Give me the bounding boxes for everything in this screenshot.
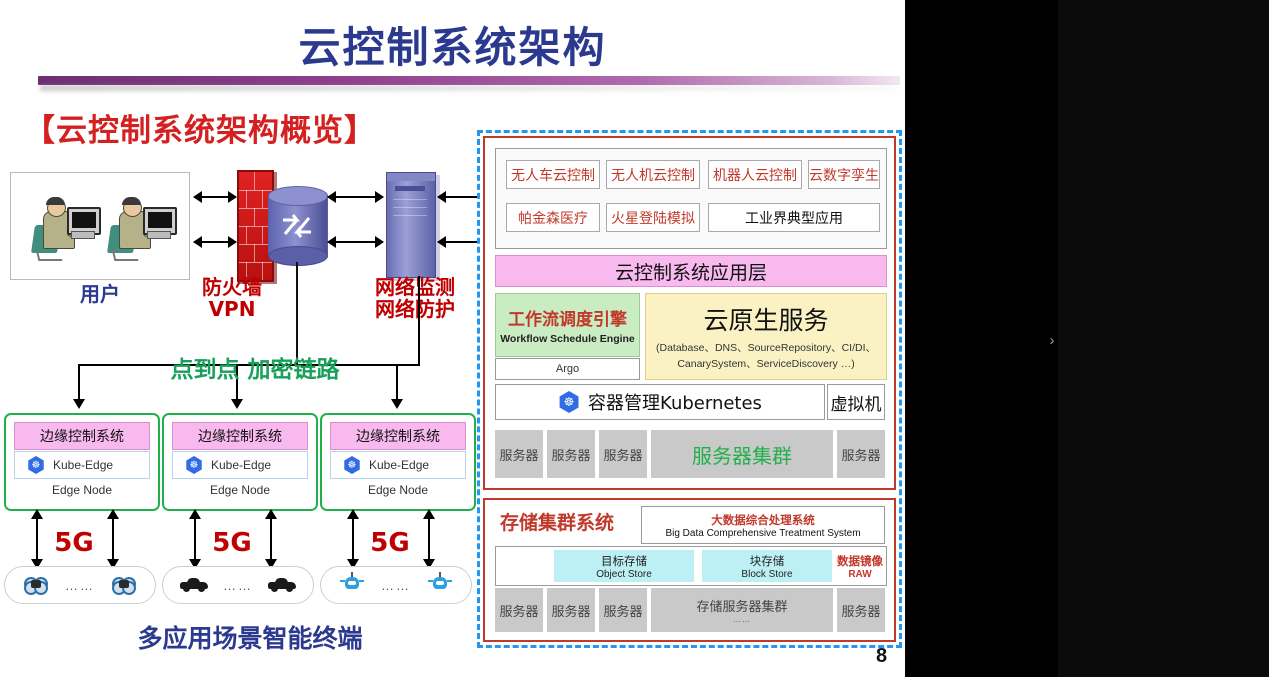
edge-control-system-title: 边缘控制系统 (14, 422, 150, 450)
car-icon (180, 578, 208, 592)
storage-types-row: 目标存储 Object Store 块存储 Block Store 数据镜像 R… (495, 546, 887, 586)
cloud-native-en: (Database、DNS、SourceRepository、CI/DI、Can… (646, 341, 886, 371)
section-subtitle: 【云控制系统架构概览】 (24, 105, 376, 150)
presentation-slide: 云控制系统架构 【云控制系统架构概览】 8 用户 (0, 0, 905, 677)
kube-edge-label: Kube-Edge (369, 458, 429, 472)
storage-server-box-3: 服务器 (599, 588, 647, 632)
cloud-native-services-box: 云原生服务 (Database、DNS、SourceRepository、CI/… (645, 293, 887, 380)
server-box-4: 服务器 (837, 430, 885, 478)
drone-icon (24, 577, 48, 593)
robot-icon (428, 576, 452, 594)
application-list-box: 无人车云控制 无人机云控制 机器人云控制 云数字孪生 帕金森医疗 火星登陆模拟 … (495, 148, 887, 249)
arrow-router-server-bottom (328, 241, 383, 243)
link-5g-3b (428, 518, 430, 560)
firewall-label: 防火墙 VPN (184, 276, 280, 321)
stage-background (905, 0, 1058, 677)
server-cluster-row: 服务器 服务器 服务器 服务器集群 服务器 (495, 430, 885, 478)
data-mirror-cn: 数据镜像 (837, 553, 883, 569)
storage-server-box-4: 服务器 (837, 588, 885, 632)
block-store-box: 块存储 Block Store (702, 550, 832, 582)
kube-edge-label: Kube-Edge (211, 458, 271, 472)
router-stem-line (296, 262, 298, 366)
workflow-engine-cn: 工作流调度引擎 (508, 305, 627, 330)
user-person-icon (103, 195, 177, 261)
arrow-to-edge-1 (78, 364, 80, 400)
container-layer-row: ☸ 容器管理Kubernetes 虚拟机 (495, 384, 885, 418)
edge-node-2[interactable]: 边缘控制系统 ☸ Kube-Edge Edge Node (162, 413, 318, 511)
firewall-label-vpn: VPN (209, 297, 256, 321)
page-title: 云控制系统架构 (0, 14, 905, 75)
arrow-users-firewall-top (194, 196, 236, 198)
car-icon (268, 578, 296, 592)
kubernetes-icon: ☸ (558, 391, 580, 413)
server-box-3: 服务器 (599, 430, 647, 478)
network-monitor-server-icon (386, 172, 436, 278)
app-item-1[interactable]: 无人机云控制 (606, 160, 700, 189)
arrow-to-edge-3 (396, 364, 398, 400)
firewall-label-cn: 防火墙 (202, 275, 262, 299)
edge-trunk-riser (418, 276, 420, 366)
users-illustration-box (10, 172, 190, 280)
arrow-server-cloud-bottom (438, 241, 478, 243)
kube-edge-row: ☸ Kube-Edge (14, 451, 150, 479)
edge-node-footer: Edge Node (164, 483, 316, 497)
users-label: 用户 (50, 283, 150, 305)
link-5g-3a (352, 518, 354, 560)
link-5g-1b (112, 518, 114, 560)
cloud-application-layer-band: 云控制系统应用层 (495, 255, 887, 287)
kubernetes-icon: ☸ (27, 456, 45, 474)
terminal-group-cars: …… (162, 566, 314, 604)
title-divider (38, 76, 900, 85)
network-defense-text: 网络防护 (375, 297, 455, 321)
multi-scenario-terminal-label: 多应用场景智能终端 (60, 625, 440, 653)
network-monitor-text: 网络监测 (375, 275, 455, 299)
app-item-5[interactable]: 火星登陆模拟 (606, 203, 700, 232)
server-box-1: 服务器 (495, 430, 543, 478)
edge-node-3[interactable]: 边缘控制系统 ☸ Kube-Edge Edge Node (320, 413, 476, 511)
kube-edge-label: Kube-Edge (53, 458, 113, 472)
app-item-0[interactable]: 无人车云控制 (506, 160, 600, 189)
router-icon (268, 186, 326, 264)
big-data-en: Big Data Comprehensive Treatment System (665, 528, 860, 539)
edge-node-footer: Edge Node (322, 483, 474, 497)
label-5g-2: 5G (212, 528, 252, 558)
p2p-encrypted-link-label: 点到点 加密链路 (140, 358, 370, 384)
storage-server-box-2: 服务器 (547, 588, 595, 632)
workflow-schedule-engine-box: 工作流调度引擎 Workflow Schedule Engine (495, 293, 640, 357)
title-divider-shadow (40, 85, 898, 91)
argo-box: Argo (495, 358, 640, 380)
kube-edge-row: ☸ Kube-Edge (330, 451, 466, 479)
participant-rail: 高鹏 杨振 北京理工大学自动化学院 (1058, 0, 1269, 677)
edge-node-1[interactable]: 边缘控制系统 ☸ Kube-Edge Edge Node (4, 413, 160, 511)
label-5g-1: 5G (54, 528, 94, 558)
link-5g-2a (194, 518, 196, 560)
screen: 云控制系统架构 【云控制系统架构概览】 8 用户 (0, 0, 1269, 677)
kube-edge-row: ☸ Kube-Edge (172, 451, 308, 479)
kubernetes-icon: ☸ (185, 456, 203, 474)
server-cluster-box: 服务器集群 (651, 430, 833, 478)
big-data-cn: 大数据综合处理系统 (711, 512, 815, 528)
terminal-group-robots: …… (320, 566, 472, 604)
kubernetes-icon: ☸ (343, 456, 361, 474)
big-data-treatment-box: 大数据综合处理系统 Big Data Comprehensive Treatme… (641, 506, 885, 544)
slide-number: 8 (876, 645, 887, 668)
link-5g-2b (270, 518, 272, 560)
kubernetes-box: ☸ 容器管理Kubernetes (495, 384, 825, 420)
block-store-cn: 块存储 (750, 553, 785, 569)
storage-cluster-dots: …… (733, 615, 751, 624)
storage-cluster-box: 存储服务器集群 …… (651, 588, 833, 632)
user-person-icon (27, 195, 101, 261)
object-store-box: 目标存储 Object Store (554, 550, 694, 582)
app-item-2[interactable]: 机器人云控制 (708, 160, 802, 189)
object-store-en: Object Store (596, 569, 652, 580)
app-item-3[interactable]: 云数字孪生 (808, 160, 880, 189)
storage-cluster-label: 存储服务器集群 (696, 596, 787, 615)
block-store-en: Block Store (741, 569, 792, 580)
link-5g-1a (36, 518, 38, 560)
data-mirror-box: 数据镜像 RAW (836, 550, 884, 582)
app-item-6[interactable]: 工业界典型应用 (708, 203, 880, 232)
app-item-4[interactable]: 帕金森医疗 (506, 203, 600, 232)
arrow-router-server-top (328, 196, 383, 198)
storage-server-box-1: 服务器 (495, 588, 543, 632)
storage-server-row: 服务器 服务器 服务器 存储服务器集群 …… 服务器 (495, 588, 885, 632)
arrow-server-cloud-top (438, 196, 478, 198)
edge-control-system-title: 边缘控制系统 (330, 422, 466, 450)
drone-group-dots: …… (65, 578, 95, 593)
network-protection-label: 网络监测 网络防护 (350, 276, 480, 321)
robot-group-dots: …… (381, 578, 411, 593)
object-store-cn: 目标存储 (601, 553, 647, 569)
workflow-engine-en: Workflow Schedule Engine (500, 333, 635, 345)
edge-node-footer: Edge Node (6, 483, 158, 497)
drone-icon (112, 577, 136, 593)
robot-icon (340, 576, 364, 594)
storage-cluster-system-title: 存储集群系统 (500, 508, 614, 535)
data-mirror-en: RAW (848, 569, 871, 580)
car-group-dots: …… (223, 578, 253, 593)
server-box-2: 服务器 (547, 430, 595, 478)
arrow-users-firewall-bottom (194, 241, 236, 243)
label-5g-3: 5G (370, 528, 410, 558)
terminal-group-drones: …… (4, 566, 156, 604)
cloud-native-cn: 云原生服务 (703, 301, 828, 337)
kubernetes-label: 容器管理Kubernetes (588, 389, 762, 415)
edge-control-system-title: 边缘控制系统 (172, 422, 308, 450)
virtual-machine-box: 虚拟机 (827, 384, 885, 420)
